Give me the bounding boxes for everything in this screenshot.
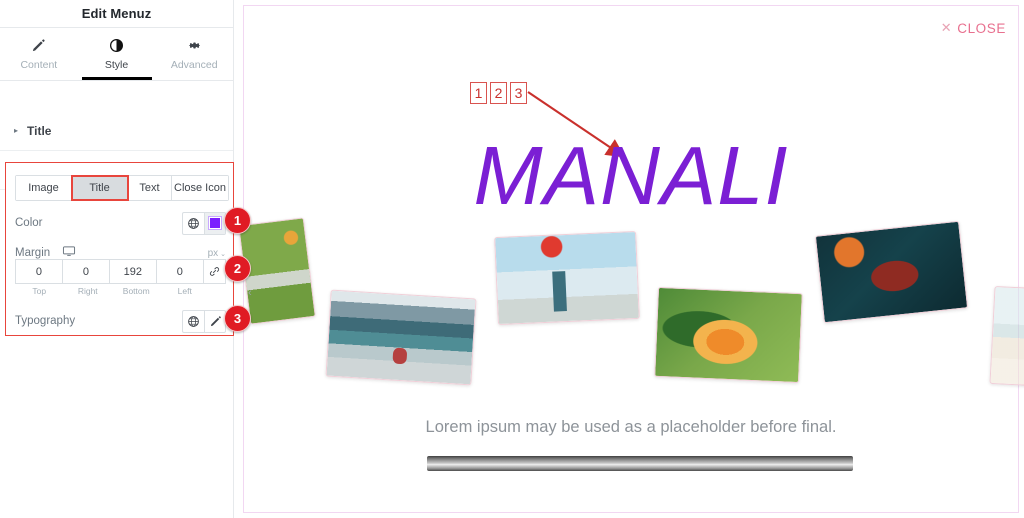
photo-basketball-image — [816, 222, 967, 322]
margin-left-label: Left — [161, 286, 210, 296]
color-control-row: Color — [15, 211, 226, 235]
tab-advanced[interactable]: Advanced — [155, 28, 233, 80]
tab-style-label: Style — [105, 59, 128, 71]
carousel-prev-handle[interactable]: ‹ — [248, 287, 252, 299]
color-label: Color — [15, 217, 42, 229]
modal-caption-text: Lorem ipsum may be used as a placeholder… — [244, 418, 1018, 437]
chevron-down-icon: ⌄ — [220, 251, 226, 258]
editor-window: Edit Menuz Content — [0, 0, 1024, 518]
modal-preview-canvas: ✕ CLOSE 1 2 3 MANALI — [243, 5, 1019, 513]
photo-lake-image — [327, 291, 476, 385]
panel-spacer — [0, 81, 233, 112]
modal-title-text: MANALI — [244, 134, 1018, 217]
subtab-title[interactable]: Title — [72, 176, 128, 200]
color-swatch — [209, 217, 221, 229]
subtab-image-label: Image — [28, 182, 59, 194]
margin-left-input[interactable]: 0 — [156, 259, 203, 284]
margin-top-label: Top — [15, 286, 64, 296]
margin-top-input[interactable]: 0 — [15, 259, 62, 284]
link-icon[interactable] — [203, 259, 226, 284]
section-title[interactable]: ▸ Title — [0, 112, 233, 151]
step-badge-2: 2 — [224, 255, 251, 282]
globe-icon[interactable] — [183, 213, 204, 234]
tab-content-label: Content — [20, 59, 57, 71]
subtab-text-label: Text — [139, 182, 159, 194]
typography-control-row: Typography — [15, 309, 226, 333]
margin-right-label: Right — [64, 286, 113, 296]
tab-content[interactable]: Content — [0, 28, 78, 80]
subtab-close-icon[interactable]: Close Icon — [172, 176, 228, 200]
contrast-icon — [109, 38, 124, 54]
color-swatch-button[interactable] — [204, 213, 225, 234]
margin-unit-value: px — [208, 248, 219, 259]
photo-beach-image — [495, 232, 639, 324]
section-title-label: Title — [27, 124, 51, 138]
subtab-title-label: Title — [89, 182, 109, 194]
margin-unit-select[interactable]: px⌄ — [208, 248, 226, 259]
margin-input-group: 0 0 192 0 — [15, 259, 226, 284]
subtab-text[interactable]: Text — [128, 176, 172, 200]
photo-flower-image — [655, 288, 802, 382]
pencil-icon — [31, 38, 46, 54]
subtab-close-icon-label: Close Icon — [174, 182, 226, 194]
pencil-icon[interactable] — [204, 311, 225, 332]
margin-right-input[interactable]: 0 — [62, 259, 109, 284]
annotation-box-2: 2 — [490, 82, 507, 104]
margin-bottom-input[interactable]: 192 — [109, 259, 156, 284]
panel-tab-strip: Content Style Advanced — [0, 28, 233, 81]
photo-flower[interactable] — [654, 287, 803, 383]
gear-icon — [187, 38, 202, 54]
annotation-number-boxes: 1 2 3 — [470, 82, 527, 104]
annotation-box-1: 1 — [470, 82, 487, 104]
margin-bottom-label: Bottom — [112, 286, 161, 296]
color-buttons — [182, 212, 226, 235]
close-button-label: CLOSE — [957, 21, 1006, 36]
typography-label: Typography — [15, 315, 75, 327]
modal-subtab-strip: Image Title Text Close Icon — [15, 175, 229, 201]
photo-shore-image — [991, 287, 1024, 385]
photo-lake[interactable] — [325, 290, 476, 386]
photo-shore[interactable] — [989, 286, 1024, 386]
margin-label: Margin — [15, 247, 50, 259]
typography-buttons — [182, 310, 226, 333]
photo-beach[interactable] — [494, 231, 640, 325]
photo-basketball[interactable] — [815, 221, 968, 324]
step-badge-1: 1 — [224, 207, 251, 234]
close-x-icon: ✕ — [941, 20, 953, 36]
modal-settings-group: Image Title Text Close Icon Color — [5, 162, 234, 336]
gradient-bar[interactable] — [427, 456, 853, 471]
panel-title: Edit Menuz — [0, 0, 233, 27]
tab-advanced-label: Advanced — [171, 59, 218, 71]
subtab-image[interactable]: Image — [16, 176, 72, 200]
chevron-right-icon: ▸ — [14, 127, 18, 135]
step-badge-3: 3 — [224, 305, 251, 332]
margin-side-labels: Top Right Bottom Left — [15, 286, 226, 296]
close-button[interactable]: ✕ CLOSE — [941, 20, 1006, 36]
globe-icon[interactable] — [183, 311, 204, 332]
tab-style[interactable]: Style — [78, 28, 156, 80]
